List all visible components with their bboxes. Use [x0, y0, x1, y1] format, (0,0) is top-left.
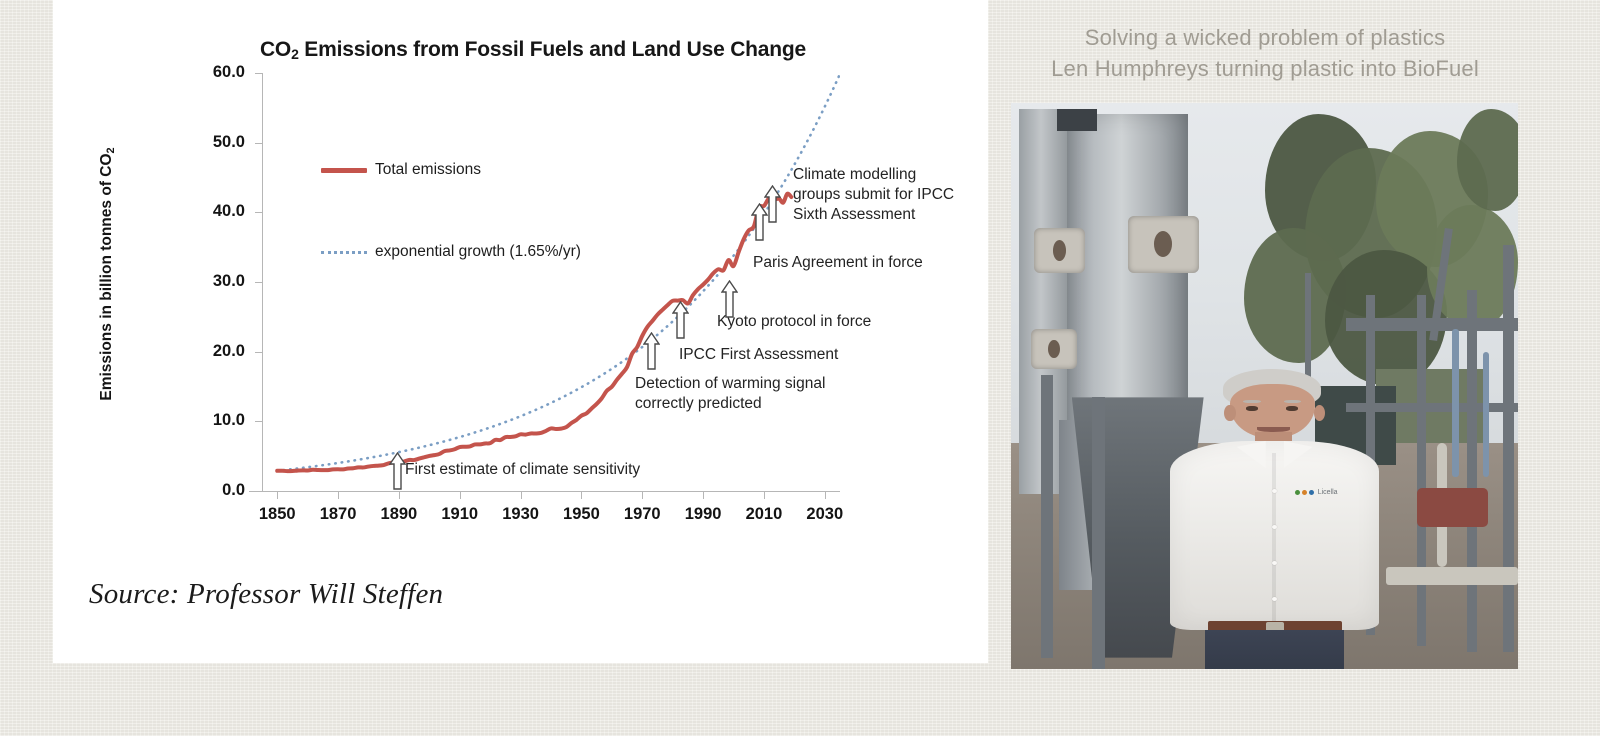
- chart-series-svg: [262, 73, 840, 491]
- person-eye-right: [1286, 406, 1298, 411]
- heading-line-1: Solving a wicked problem of plastics: [995, 22, 1535, 53]
- annotation-first-estimate: First estimate of climate sensitivity: [405, 460, 640, 480]
- y-axis-tick-label-text: 20.0: [175, 342, 245, 361]
- person-ear-left: [1224, 405, 1235, 421]
- chart-title-main: CO: [260, 38, 291, 61]
- right-panel: Solving a wicked problem of plastics Len…: [995, 0, 1595, 736]
- legend-swatch-solid-line-icon: [321, 168, 367, 173]
- y-axis-tick-label-text: 60.0: [175, 63, 245, 82]
- legend-item-total-emissions: Total emissions: [321, 161, 481, 179]
- photo-tree: [1457, 109, 1518, 211]
- arrow-up-icon-kyoto-protocol: [672, 301, 689, 339]
- person-shirt-placket: [1272, 453, 1276, 621]
- photo-pipe-flange: [1034, 228, 1085, 273]
- photo-column-cap: [1057, 109, 1098, 132]
- photo-pipe-flange: [1128, 216, 1199, 273]
- plot-area: [262, 73, 840, 491]
- photo-frame-bar: [1467, 290, 1477, 652]
- legend-label-total-emissions: Total emissions: [375, 161, 481, 179]
- x-axis-tick-label: 2030: [785, 505, 865, 524]
- logo-dot-orange: [1302, 490, 1307, 495]
- shirt-logo-text: Licella: [1318, 489, 1338, 496]
- y-axis-tick-label-text: 30.0: [175, 272, 245, 291]
- photo-frame-bar: [1503, 245, 1514, 653]
- x-axis-tick: [703, 491, 704, 499]
- annotation-kyoto-protocol: Kyoto protocol in force: [717, 312, 871, 332]
- photo-white-pipe: [1386, 567, 1518, 585]
- series-line-total-emissions: [277, 194, 791, 472]
- y-axis-tick-label-text: 10.0: [175, 411, 245, 430]
- chart-title-rest: Emissions from Fossil Fuels and Land Use…: [299, 38, 806, 61]
- x-axis-tick: [581, 491, 582, 499]
- x-axis-tick: [521, 491, 522, 499]
- shirt-logo-icon: Licella: [1295, 489, 1338, 496]
- arrow-up-icon-first-estimate: [389, 452, 406, 490]
- x-axis-tick: [338, 491, 339, 499]
- chart-title-subscript: 2: [291, 46, 299, 62]
- legend-label-exponential-growth: exponential growth (1.65%/yr): [375, 243, 581, 261]
- y-axis-tick-label-text: 40.0: [175, 202, 245, 221]
- legend-swatch-dotted-line-icon: [321, 251, 367, 254]
- source-attribution: Source: Professor Will Steffen: [89, 578, 443, 611]
- y-axis-tick-label-text: 0.0: [175, 481, 245, 500]
- arrow-up-icon-paris-agreement: [721, 280, 738, 318]
- person-eye-left: [1246, 406, 1258, 411]
- right-panel-heading: Solving a wicked problem of plastics Len…: [995, 22, 1535, 84]
- photo-flange-bolt: [1048, 340, 1060, 358]
- y-axis-tick-label-text: 50.0: [175, 133, 245, 152]
- photo-blue-pipe: [1483, 352, 1489, 477]
- photo-red-tank: [1417, 488, 1488, 528]
- x-axis-tick: [642, 491, 643, 499]
- x-axis-tick: [825, 491, 826, 499]
- photo-frame-bar: [1417, 295, 1426, 646]
- photo-pipe-flange: [1031, 329, 1077, 369]
- plant-photo-scene: Licella: [1011, 103, 1518, 669]
- annotation-paris-agreement: Paris Agreement in force: [753, 253, 923, 273]
- photo-blue-pipe: [1452, 329, 1459, 476]
- logo-dot-green: [1295, 490, 1300, 495]
- photo-flange-bolt: [1154, 231, 1172, 257]
- legend-item-exponential-growth: exponential growth (1.65%/yr): [321, 243, 581, 261]
- chart-card: CO2 Emissions from Fossil Fuels and Land…: [53, 0, 988, 663]
- person-trousers: [1205, 630, 1343, 669]
- annotation-ipcc-sixth-assessment: Climate modelling groups submit for IPCC…: [793, 165, 954, 224]
- x-axis-tick: [764, 491, 765, 499]
- annotation-ipcc-first-assessment: IPCC First Assessment: [679, 345, 838, 365]
- logo-dot-blue: [1309, 490, 1314, 495]
- person-figure: Licella: [1163, 369, 1386, 669]
- arrow-up-icon-ipcc-first-assessment: [643, 332, 660, 370]
- heading-line-2: Len Humphreys turning plastic into BioFu…: [995, 53, 1535, 84]
- x-axis-tick: [460, 491, 461, 499]
- chart-title: CO2 Emissions from Fossil Fuels and Land…: [208, 38, 858, 62]
- y-axis-tick: [255, 491, 263, 492]
- y-axis-title-main: Emissions in billion tonnes of CO: [98, 153, 115, 400]
- x-axis-tick: [277, 491, 278, 499]
- photo-flange-bolt: [1053, 240, 1066, 261]
- y-axis-title-subscript: 2: [105, 147, 117, 153]
- annotation-detection-warming: Detection of warming signal correctly pr…: [635, 374, 825, 414]
- y-axis-title: Emissions in billion tonnes of CO2: [98, 124, 116, 424]
- photo-support-leg: [1041, 375, 1052, 658]
- photo-support-leg: [1092, 397, 1105, 669]
- arrow-up-icon-ipcc-sixth-assessment: [764, 185, 781, 223]
- plant-photo: Licella: [1011, 103, 1518, 669]
- x-axis-tick: [399, 491, 400, 499]
- person-ear-right: [1314, 405, 1325, 421]
